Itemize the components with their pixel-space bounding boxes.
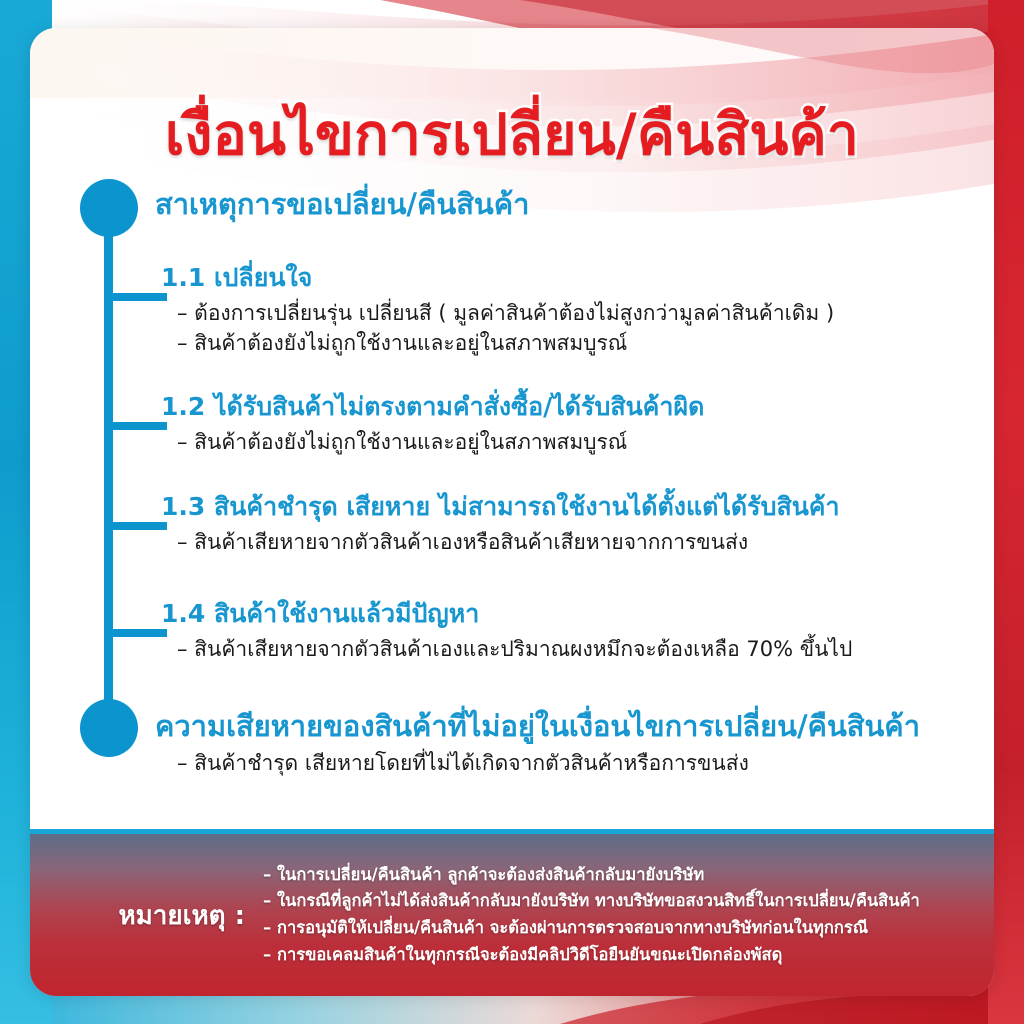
section-item-1-4: 1.4 สินค้าใช้งานแล้วมีปัญหา – สินค้าเสีย… (155, 600, 852, 665)
section-item-1-2: 1.2 ได้รับสินค้าไม่ตรงตามคำสั่งซื้อ/ได้ร… (155, 393, 704, 458)
section-heading: 1.2 ได้รับสินค้าไม่ตรงตามคำสั่งซื้อ/ได้ร… (161, 393, 704, 421)
list-item: – สินค้าเสียหายจากตัวสินค้าเองหรือสินค้า… (177, 528, 840, 558)
bullet-list: – สินค้าเสียหายจากตัวสินค้าเองและปริมาณผ… (155, 635, 852, 665)
note-item: – ในกรณีที่ลูกค้าไม่ได้ส่งสินค้ากลับมายั… (263, 888, 994, 915)
bullet-list: – สินค้าเสียหายจากตัวสินค้าเองหรือสินค้า… (155, 528, 840, 558)
footer-notes-panel: หมายเหตุ : – ในการเปลี่ยน/คืนสินค้า ลูกค… (30, 829, 994, 996)
section-heading: 1.1 เปลี่ยนใจ (161, 264, 834, 292)
timeline-node-top (80, 179, 138, 237)
notes-label: หมายเหตุ : (30, 895, 263, 936)
section-reasons: สาเหตุการขอเปลี่ยน/คืนสินค้า (155, 188, 529, 227)
card-upper-white-panel: เงื่อนไขการเปลี่ยน/คืนสินค้า สาเหตุการขอ… (30, 28, 994, 834)
bullet-list: – สินค้าชำรุด เสียหายโดยที่ไม่ได้เกิดจาก… (155, 749, 920, 779)
content-card: เงื่อนไขการเปลี่ยน/คืนสินค้า สาเหตุการขอ… (30, 28, 994, 996)
list-item: – สินค้าเสียหายจากตัวสินค้าเองและปริมาณผ… (177, 635, 852, 665)
page-title: เงื่อนไขการเปลี่ยน/คืนสินค้า (30, 90, 994, 180)
note-item: – การขอเคลมสินค้าในทุกกรณีจะต้องมีคลิปวิ… (263, 942, 994, 969)
section-damage-excluded: ความเสียหายของสินค้าที่ไม่อยู่ในเงื่อนไข… (155, 710, 920, 779)
timeline-node-bottom (80, 699, 138, 757)
note-item: – การอนุมัติให้เปลี่ยน/คืนสินค้า จะต้องผ… (263, 915, 994, 942)
section-item-1-3: 1.3 สินค้าชำรุด เสียหาย ไม่สามารถใช้งานไ… (155, 493, 840, 558)
notes-list: – ในการเปลี่ยน/คืนสินค้า ลูกค้าจะต้องส่ง… (263, 862, 994, 969)
list-item: – ต้องการเปลี่ยนรุ่น เปลี่ยนสี ( มูลค่าส… (177, 299, 834, 329)
section-heading: ความเสียหายของสินค้าที่ไม่อยู่ในเงื่อนไข… (155, 710, 920, 742)
section-heading: 1.3 สินค้าชำรุด เสียหาย ไม่สามารถใช้งานไ… (161, 493, 840, 521)
list-item: – สินค้าชำรุด เสียหายโดยที่ไม่ได้เกิดจาก… (177, 749, 920, 779)
section-item-1-1: 1.1 เปลี่ยนใจ – ต้องการเปลี่ยนรุ่น เปลี่… (155, 264, 834, 359)
bullet-list: – ต้องการเปลี่ยนรุ่น เปลี่ยนสี ( มูลค่าส… (155, 299, 834, 359)
timeline-spine (104, 208, 113, 726)
list-item: – สินค้าต้องยังไม่ถูกใช้งานและอยู่ในสภาพ… (177, 329, 834, 359)
bullet-list: – สินค้าต้องยังไม่ถูกใช้งานและอยู่ในสภาพ… (155, 428, 704, 458)
section-heading: 1.4 สินค้าใช้งานแล้วมีปัญหา (161, 600, 852, 628)
note-item: – ในการเปลี่ยน/คืนสินค้า ลูกค้าจะต้องส่ง… (263, 862, 994, 889)
list-item: – สินค้าต้องยังไม่ถูกใช้งานและอยู่ในสภาพ… (177, 428, 704, 458)
section-heading: สาเหตุการขอเปลี่ยน/คืนสินค้า (155, 188, 529, 220)
